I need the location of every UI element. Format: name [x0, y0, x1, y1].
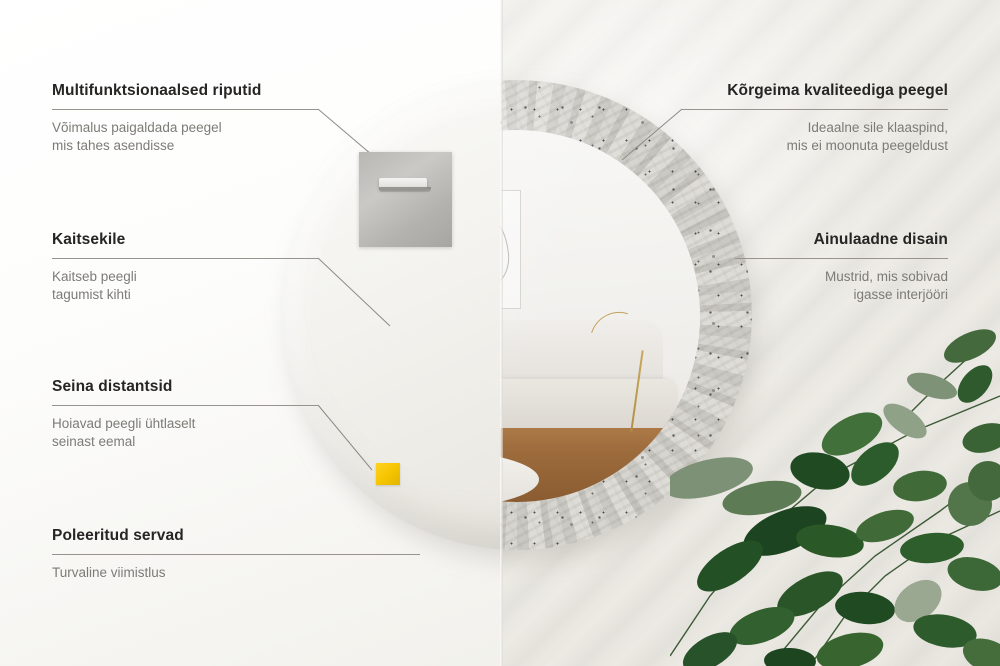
callout-title: Seina distantsid	[52, 378, 318, 397]
callout-description: Mustrid, mis sobivad igasse interjööri	[735, 268, 948, 305]
callout-description: Hoiavad peegli ühtlaselt seinast eemal	[52, 415, 318, 452]
callout-kaitsekile: Kaitsekile Kaitseb peegli tagumist kihti	[52, 231, 318, 305]
callout-description: Ideaalne sile klaaspind, mis ei moonuta …	[682, 119, 948, 156]
callout-description: Kaitseb peegli tagumist kihti	[52, 268, 318, 305]
callout-description: Võimalus paigaldada peegel mis tahes ase…	[52, 119, 318, 156]
callout-rule	[52, 405, 318, 406]
foliage-overlay	[670, 326, 1000, 666]
yellow-wall-spacer	[376, 463, 400, 485]
callout-title: Kõrgeima kvaliteediga peegel	[682, 82, 948, 101]
hanger-slot-shadow	[379, 187, 431, 192]
callout-ainulaadne-disain: Ainulaadne disain Mustrid, mis sobivad i…	[735, 231, 948, 305]
callout-title: Ainulaadne disain	[735, 231, 948, 250]
callout-seina-distantsid: Seina distantsid Hoiavad peegli ühtlasel…	[52, 378, 318, 452]
infographic-canvas: Multifunktsionaalsed riputid Võimalus pa…	[0, 0, 1000, 666]
center-divider	[500, 0, 503, 666]
callout-title: Poleeritud servad	[52, 527, 420, 546]
foliage-leaves	[670, 326, 1000, 666]
callout-rule	[52, 258, 318, 259]
callout-title: Multifunktsionaalsed riputid	[52, 82, 318, 101]
callout-korgeima-kvaliteediga-peegel: Kõrgeima kvaliteediga peegel Ideaalne si…	[682, 82, 948, 156]
callout-title: Kaitsekile	[52, 231, 318, 250]
hanger-detail-panel	[359, 152, 452, 247]
callout-rule	[682, 109, 948, 110]
callout-description: Turvaline viimistlus	[52, 564, 420, 583]
callout-poleeritud-servad: Poleeritud servad Turvaline viimistlus	[52, 527, 420, 582]
callout-multifunktsionaalsed-riputid: Multifunktsionaalsed riputid Võimalus pa…	[52, 82, 318, 156]
callout-rule	[52, 554, 420, 555]
callout-rule	[52, 109, 318, 110]
callout-rule	[735, 258, 948, 259]
